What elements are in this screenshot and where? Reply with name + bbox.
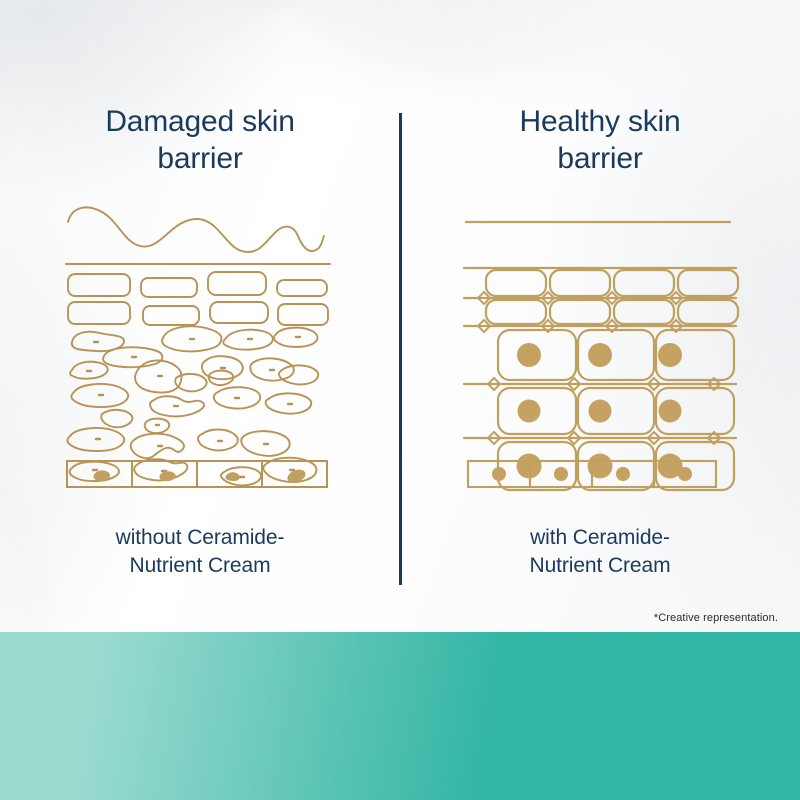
healthy-basal-nucleus — [616, 467, 630, 481]
damaged-brick — [210, 302, 268, 323]
healthy-basal-layer — [458, 455, 742, 499]
healthy-basal-nucleus — [678, 467, 692, 481]
damaged-surface-wavy-line — [68, 207, 324, 252]
vertical-divider — [399, 113, 402, 585]
damaged-brick — [68, 302, 130, 324]
healthy-flat-cell — [550, 270, 610, 296]
damaged-brick — [277, 280, 327, 296]
caption-healthy: with Ceramide- Nutrient Cream — [440, 524, 760, 580]
healthy-flat-cell — [614, 270, 674, 296]
healthy-flat-cell — [486, 300, 546, 324]
healthy-nucleus — [659, 400, 682, 423]
healthy-flat-cell — [678, 300, 738, 324]
healthy-nucleus — [658, 343, 682, 367]
teal-gradient-band — [0, 632, 800, 800]
caption-damaged: without Ceramide- Nutrient Cream — [40, 524, 360, 580]
damaged-brick — [208, 272, 266, 295]
damaged-brick — [68, 274, 130, 296]
healthy-nucleus — [588, 343, 612, 367]
damaged-basal-nuclei — [94, 470, 306, 483]
healthy-nucleus — [518, 400, 541, 423]
damaged-basal-layer — [58, 455, 342, 499]
healthy-flat-cell — [614, 300, 674, 324]
infographic-canvas: Damaged skin barrier Healthy skin barrie… — [0, 0, 800, 800]
damaged-brick — [143, 306, 199, 325]
healthy-nucleus — [589, 400, 612, 423]
healthy-nucleus — [517, 343, 541, 367]
healthy-basal-nucleus — [492, 467, 506, 481]
healthy-flat-cell — [678, 270, 738, 296]
healthy-basal-nucleus — [554, 467, 568, 481]
damaged-skin-barrier-diagram — [58, 196, 342, 496]
footnote-disclaimer: *Creative representation. — [654, 612, 778, 624]
heading-damaged: Damaged skin barrier — [40, 104, 360, 177]
damaged-brick — [141, 278, 197, 297]
healthy-flat-cell — [550, 300, 610, 324]
healthy-flat-cell — [486, 270, 546, 296]
damaged-brick — [278, 304, 328, 325]
heading-healthy: Healthy skin barrier — [440, 104, 760, 177]
healthy-skin-barrier-diagram — [458, 196, 742, 496]
